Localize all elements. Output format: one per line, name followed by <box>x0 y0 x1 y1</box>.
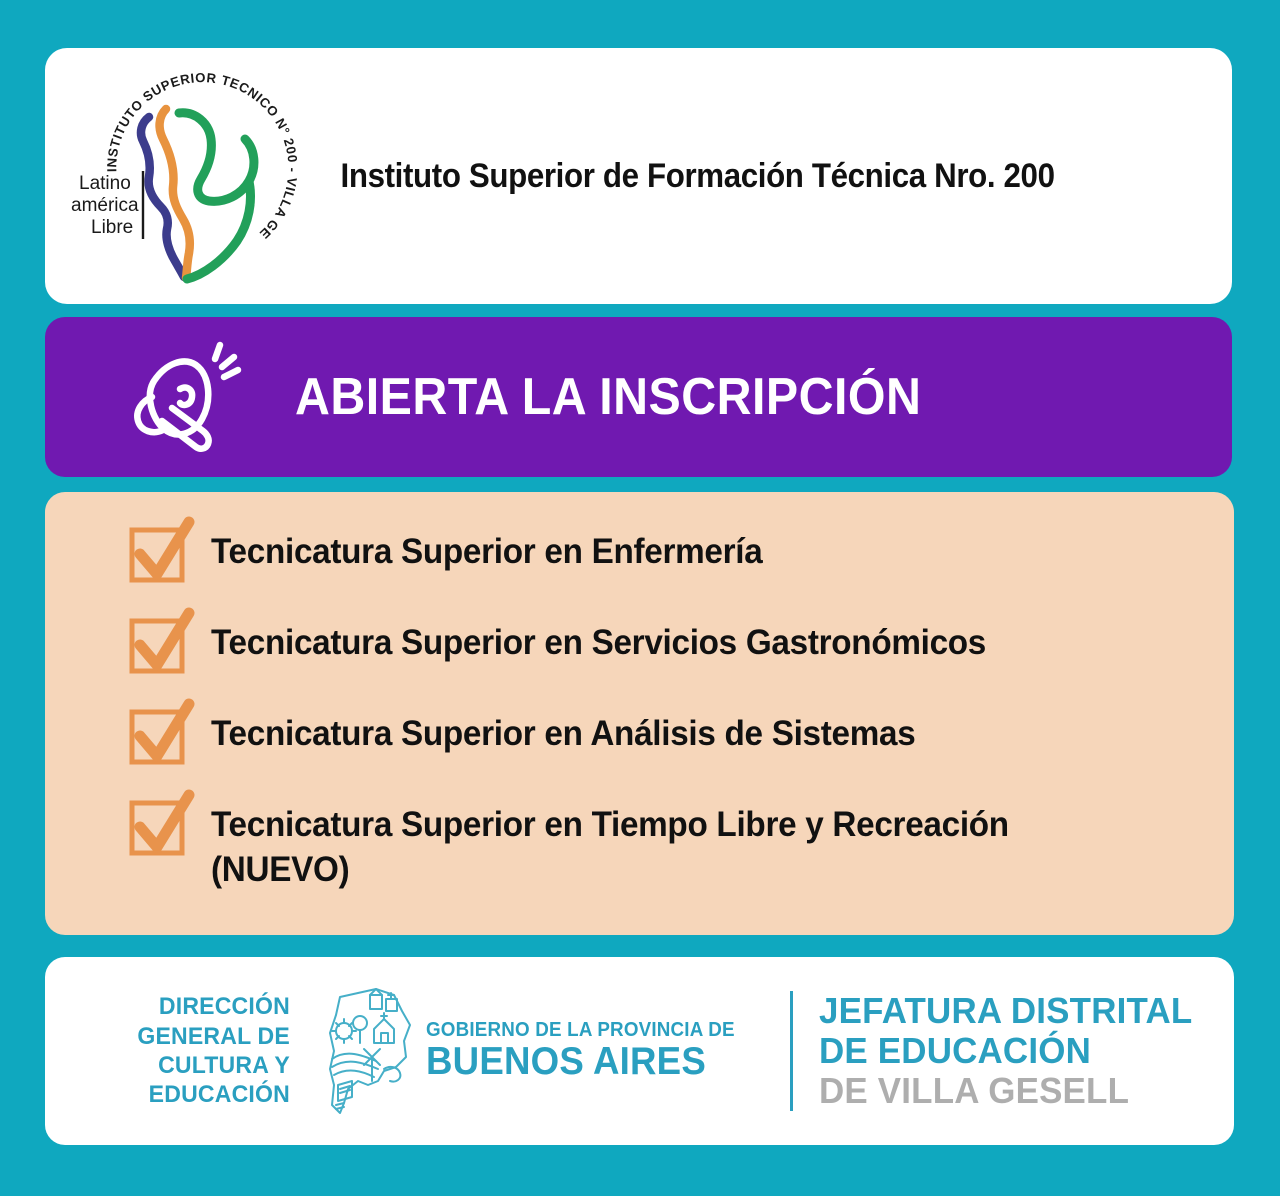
buenos-aires-name: BUENOS AIRES <box>426 1042 735 1083</box>
program-label: Tecnicatura Superior en Servicios Gastro… <box>211 605 986 666</box>
footer-divider <box>790 991 793 1111</box>
svg-text:Latino: Latino <box>79 173 131 194</box>
program-label: Tecnicatura Superior en Tiempo Libre y R… <box>211 787 1154 893</box>
checkbox-checked-icon-wrap <box>125 787 211 866</box>
dgce-line-2: CULTURA Y EDUCACIÓN <box>111 1051 290 1110</box>
dgce-line-1: DIRECCIÓN GENERAL DE <box>111 992 290 1051</box>
header-card: INSTITUTO SUPERIOR TECNICO N° 200 - VILL… <box>45 48 1232 304</box>
megaphone-icon <box>118 335 243 460</box>
poster: INSTITUTO SUPERIOR TECNICO N° 200 - VILL… <box>0 0 1280 1196</box>
institute-logo-graphic: INSTITUTO SUPERIOR TECNICO N° 200 - VILL… <box>65 61 315 291</box>
gobierno-prefix: GOBIERNO DE LA PROVINCIA DE <box>426 1019 735 1042</box>
checkbox-checked-icon-wrap <box>125 605 211 684</box>
page-title: Instituto Superior de Formación Técnica … <box>335 157 1160 196</box>
list-item: Tecnicatura Superior en Tiempo Libre y R… <box>125 787 1204 893</box>
checkbox-checked-icon <box>125 789 197 861</box>
program-label: Tecnicatura Superior en Enfermería <box>211 514 762 575</box>
announcement-banner: ABIERTA LA INSCRIPCIÓN <box>45 317 1232 477</box>
list-item: Tecnicatura Superior en Enfermería <box>125 514 1204 593</box>
svg-text:américa: américa <box>71 195 139 216</box>
footer-card: DIRECCIÓN GENERAL DE CULTURA Y EDUCACIÓN <box>45 957 1234 1145</box>
megaphone-icon-wrap <box>45 335 305 460</box>
logo-wordmark: Latino américa Libre <box>71 173 139 238</box>
jefatura-line-1: JEFATURA DISTRITAL <box>819 991 1192 1031</box>
checkbox-checked-icon <box>125 516 197 588</box>
buenos-aires-province-map-icon <box>318 985 418 1117</box>
dgce-logotype: DIRECCIÓN GENERAL DE CULTURA Y EDUCACIÓN <box>111 992 290 1109</box>
svg-text:Libre: Libre <box>91 217 133 238</box>
programs-list: Tecnicatura Superior en Enfermería Tecni… <box>45 492 1234 935</box>
list-item: Tecnicatura Superior en Servicios Gastro… <box>125 605 1204 684</box>
buenos-aires-wordmark: GOBIERNO DE LA PROVINCIA DE BUENOS AIRES <box>426 1019 754 1083</box>
jefatura-line-2: DE EDUCACIÓN <box>819 1031 1192 1071</box>
program-label: Tecnicatura Superior en Análisis de Sist… <box>211 696 915 757</box>
checkbox-checked-icon <box>125 607 197 679</box>
checkbox-checked-icon <box>125 698 197 770</box>
checkbox-checked-icon-wrap <box>125 514 211 593</box>
jefatura-line-3: DE VILLA GESELL <box>819 1071 1192 1111</box>
buenos-aires-logo: GOBIERNO DE LA PROVINCIA DE BUENOS AIRES <box>318 985 754 1117</box>
institute-logo: INSTITUTO SUPERIOR TECNICO N° 200 - VILL… <box>45 51 335 301</box>
checkbox-checked-icon-wrap <box>125 696 211 775</box>
banner-title: ABIERTA LA INSCRIPCIÓN <box>295 367 921 427</box>
list-item: Tecnicatura Superior en Análisis de Sist… <box>125 696 1204 775</box>
jefatura-distrital-block: JEFATURA DISTRITAL DE EDUCACIÓN DE VILLA… <box>819 991 1192 1112</box>
